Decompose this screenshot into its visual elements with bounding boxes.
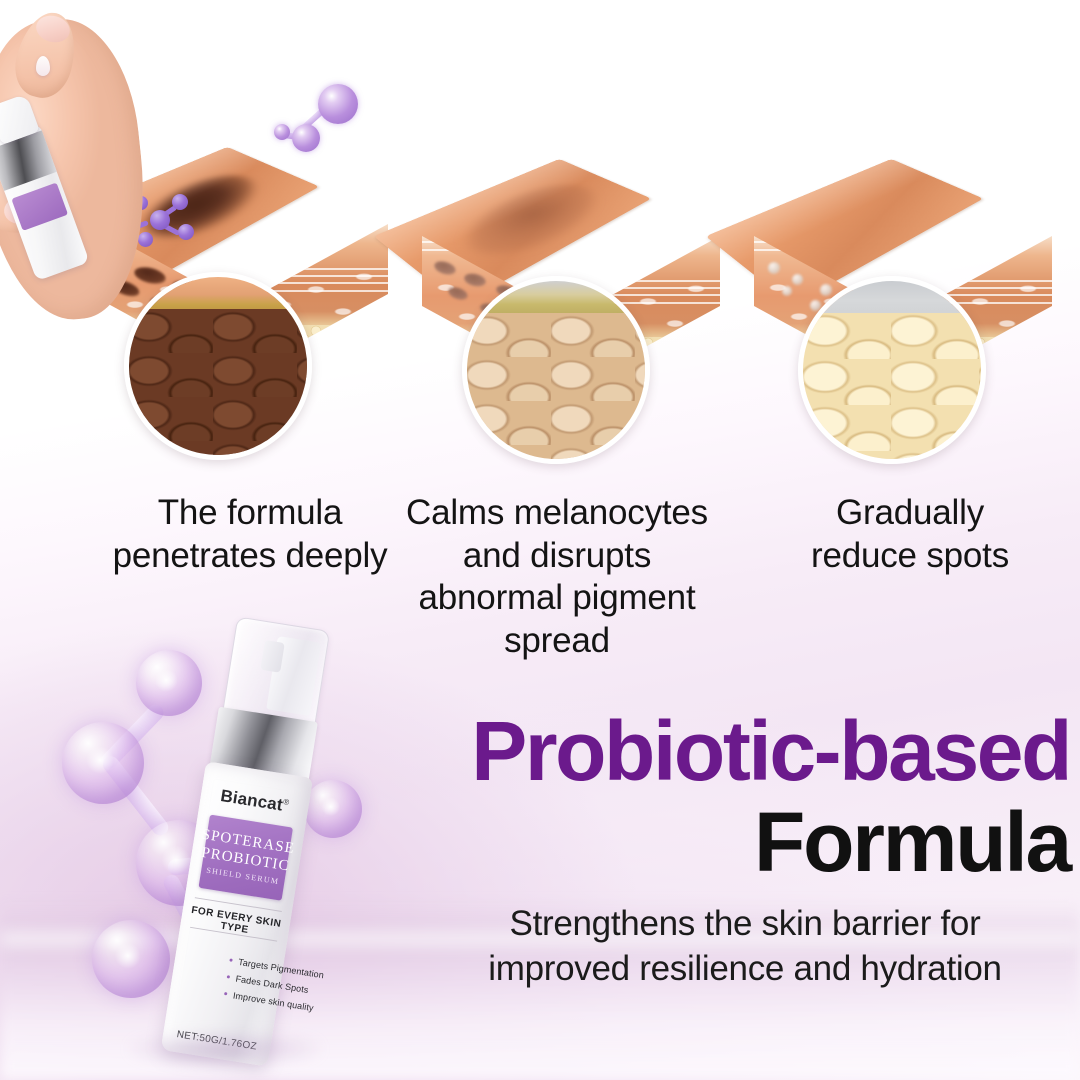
pump-head [266, 636, 321, 716]
probiotic-molecule-icon [276, 78, 366, 168]
caption-line: spread [392, 620, 722, 663]
subheadline-line-1: Strengthens the skin barrier for [420, 902, 1070, 947]
bottle-shadow [130, 1032, 320, 1066]
caption-line: penetrates deeply [60, 535, 440, 578]
subheadline-line-2: improved resilience and hydration [420, 947, 1070, 992]
skin-diagram-fading [420, 86, 720, 386]
headline-line-2: Formula [330, 800, 1070, 884]
benefit-list: Targets Pigmentation Fades Dark Spots Im… [183, 946, 317, 1017]
fading-spot-blotch [445, 176, 615, 268]
product-shot: Biancat® SPOTERASE PROBIOTIC SHIELD SERU… [58, 600, 378, 1070]
inset-cells [803, 313, 981, 459]
product-name-label: SPOTERASE PROBIOTIC SHIELD SERUM [198, 815, 293, 901]
magnified-clear-cells [798, 276, 986, 464]
step-1-caption: The formula penetrates deeply [60, 492, 440, 577]
caption-line: abnormal pigment [392, 577, 722, 620]
headline-line-1: Probiotic-based [330, 712, 1070, 792]
step-3-caption: Gradually reduce spots [760, 492, 1060, 577]
inset-cells [467, 313, 645, 459]
brand-name: Biancat® [200, 783, 310, 820]
hand-holding-bottle-icon [0, 20, 192, 350]
caption-line: Gradually [760, 492, 1060, 535]
subheadline-block: Strengthens the skin barrier for improve… [420, 902, 1070, 992]
caption-line: and disrupts [392, 535, 722, 578]
brand-text: Biancat [219, 786, 284, 815]
serum-droplet-icon [36, 56, 50, 76]
skin-diagram-clear [752, 86, 1052, 386]
registered-mark: ® [283, 797, 290, 807]
caption-line: The formula [60, 492, 440, 535]
product-marketing-poster: The formula penetrates deeply Calms mela… [0, 0, 1080, 1080]
headline-block: Probiotic-based Formula [330, 712, 1070, 884]
skin-diagram-row [0, 0, 1080, 500]
magnified-fading-cells [462, 276, 650, 464]
step-2-caption: Calms melanocytes and disrupts abnormal … [392, 492, 722, 663]
caption-line: reduce spots [760, 535, 1060, 578]
caption-line: Calms melanocytes [392, 492, 722, 535]
